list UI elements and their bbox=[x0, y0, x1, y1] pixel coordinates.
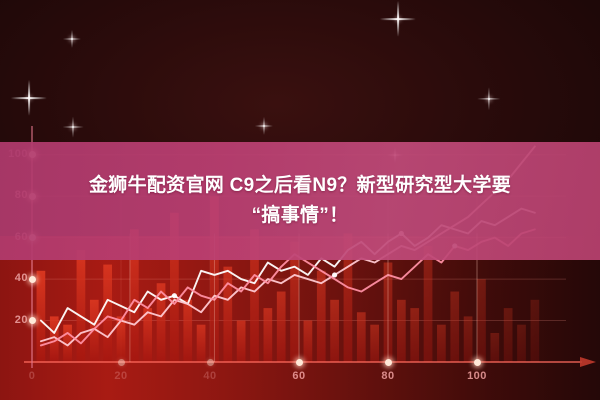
x-axis-tick-label: 60 bbox=[282, 370, 316, 382]
headline-line-2: “搞事情”！ bbox=[252, 203, 349, 229]
headline: 金狮牛配资官网 C9之后看N9？新型研究型大学要 “搞事情”！ bbox=[0, 142, 600, 260]
x-axis-tick-label: 20 bbox=[104, 370, 138, 382]
x-axis-tick-label: 40 bbox=[193, 370, 227, 382]
x-axis-tick-label: 80 bbox=[371, 370, 405, 382]
y-axis-tick-dot bbox=[29, 317, 36, 324]
x-axis-tick-dot bbox=[207, 359, 214, 366]
x-axis-tick-label: 0 bbox=[15, 370, 49, 382]
chart-region: 20406080100020406080100 bbox=[0, 236, 600, 400]
x-axis-tick-dot bbox=[474, 359, 481, 366]
x-axis-tick-dot bbox=[296, 359, 303, 366]
x-axis-tick-dot bbox=[118, 359, 125, 366]
y-axis-tick-dot bbox=[29, 276, 36, 283]
x-axis-tick-label: 100 bbox=[460, 370, 494, 382]
x-axis-tick-dot bbox=[385, 359, 392, 366]
y-axis-tick-label: 20 bbox=[0, 314, 28, 326]
poster-root: 20406080100020406080100 金狮牛配资官网 C9之后看N9？… bbox=[0, 0, 600, 400]
y-axis-tick-label: 40 bbox=[0, 272, 28, 284]
headline-line-1: 金狮牛配资官网 C9之后看N9？新型研究型大学要 bbox=[89, 173, 511, 199]
